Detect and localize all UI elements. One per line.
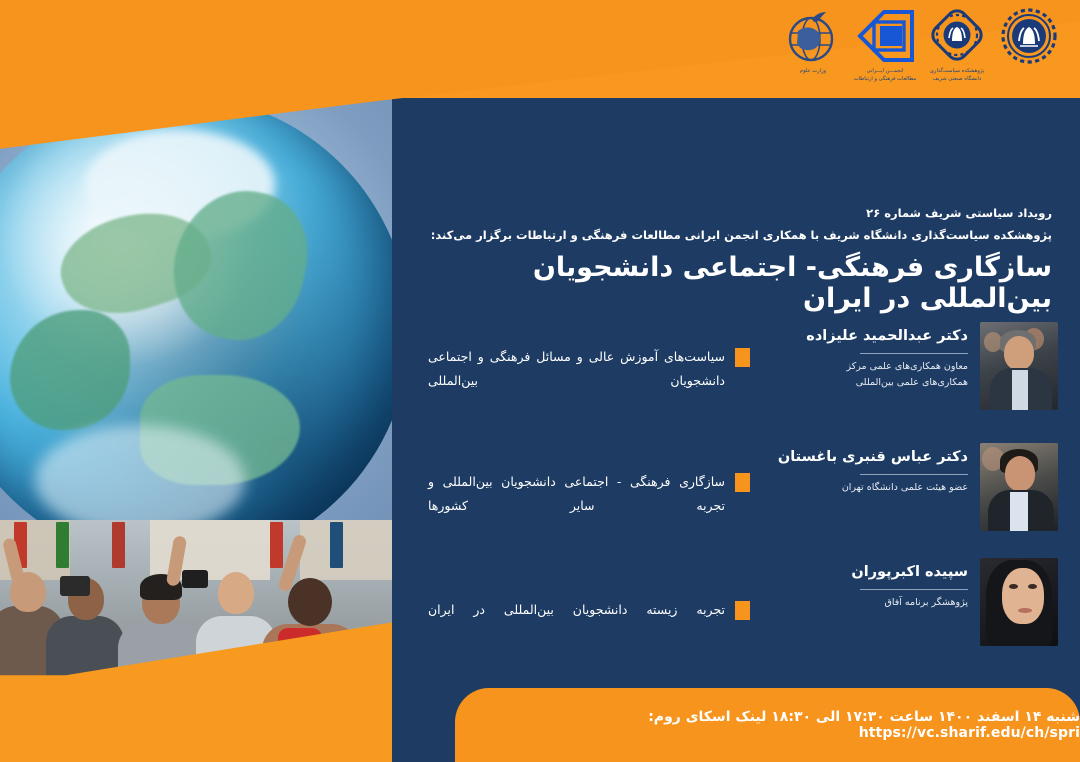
logo-sharif-policy-research-institute: پژوهشکده سیاست‌گذاری دانشگاه صنعتی شریف <box>924 6 990 84</box>
divider <box>860 353 968 354</box>
cloud-band-south <box>35 425 245 535</box>
logo-caption: انجمـــن ایـــرانی مطالعات فرهنگی و ارتب… <box>854 68 917 84</box>
crowd-person <box>218 572 254 614</box>
background-building <box>300 520 392 580</box>
logo-caption: وزارت علوم <box>800 68 826 76</box>
footer-bar: شنبه ۱۴ اسفند ۱۴۰۰ ساعت ۱۷:۳۰ الی ۱۸:۳۰ … <box>455 688 1080 762</box>
speaker-name: سپیده اکبرپوران <box>418 562 968 584</box>
sharif-policy-institute-icon <box>928 6 986 66</box>
page-title: سازگاری فرهنگی- اجتماعی دانشجویان بین‌ال… <box>422 252 1052 314</box>
logo-sharif-university <box>996 6 1062 68</box>
event-poster: وزارت علوم انجمـــن ایـــرانی مطالعات فر… <box>0 0 1080 762</box>
portrait-shirt <box>1012 370 1028 410</box>
speaker-portrait-3 <box>980 558 1058 646</box>
topic-text: سازگاری فرهنگی - اجتماعی دانشجویان بین‌ا… <box>428 470 725 519</box>
orange-square-bullet-icon <box>735 473 750 492</box>
logo-bar: وزارت علوم انجمـــن ایـــرانی مطالعات فر… <box>780 6 1076 98</box>
sharif-university-icon <box>1000 6 1058 66</box>
portrait-shirt <box>1010 492 1028 531</box>
flag <box>270 522 283 568</box>
portrait-eye <box>1009 584 1018 589</box>
camera-phone <box>60 576 90 596</box>
logo-caption: پژوهشکده سیاست‌گذاری دانشگاه صنعتی شریف <box>930 68 984 84</box>
crowd-person-hair <box>288 578 332 626</box>
portrait-face <box>1004 336 1034 370</box>
landmass-west <box>10 310 130 430</box>
orange-square-bullet-icon <box>735 601 750 620</box>
event-date-time: شنبه ۱۴ اسفند ۱۴۰۰ ساعت ۱۷:۳۰ الی ۱۸:۳۰ … <box>648 709 1080 725</box>
speaker-portrait-1 <box>980 322 1058 410</box>
topic-entry: سازگاری فرهنگی - اجتماعی دانشجویان بین‌ا… <box>428 470 750 519</box>
camera-phone <box>182 570 208 588</box>
flag <box>112 522 125 568</box>
logo-iranian-association: انجمـــن ایـــرانی مطالعات فرهنگی و ارتب… <box>852 6 918 84</box>
speaker-name: دکتر عباس قنبری باغستان <box>418 447 968 469</box>
portrait-eye <box>1028 584 1037 589</box>
association-icon <box>854 6 916 66</box>
event-link[interactable]: https://vc.sharif.edu/ch/spri <box>859 725 1080 741</box>
portrait-mouth <box>1018 608 1032 613</box>
topic-text: تجربه زیسته دانشجویان بین‌المللی در ایرا… <box>428 598 725 622</box>
orange-square-bullet-icon <box>735 348 750 367</box>
globe-ministry-icon <box>784 6 842 66</box>
divider <box>860 589 968 590</box>
event-kicker: رویداد سیاستی شریف شماره ۲۶ پژوهشکده سیا… <box>422 203 1052 247</box>
left-imagery-column <box>0 0 392 762</box>
topic-text: سیاست‌های آموزش عالی و مسائل فرهنگی و اج… <box>428 345 725 394</box>
speaker-portrait-2 <box>980 443 1058 531</box>
flag <box>330 522 343 568</box>
portrait-face <box>1005 456 1035 491</box>
event-organizers-line: پژوهشکده سیاست‌گذاری دانشگاه شریف با همک… <box>422 225 1052 247</box>
topic-entry: تجربه زیسته دانشجویان بین‌المللی در ایرا… <box>428 598 750 622</box>
logo-globe-ministry: وزارت علوم <box>780 6 846 76</box>
divider <box>860 474 968 475</box>
footer-details: شنبه ۱۴ اسفند ۱۴۰۰ ساعت ۱۷:۳۰ الی ۱۸:۳۰ … <box>455 709 1080 741</box>
earth-globe-image <box>0 95 392 565</box>
portrait-face <box>1002 568 1044 624</box>
event-series-number: رویداد سیاستی شریف شماره ۲۶ <box>866 206 1052 220</box>
topic-entry: سیاست‌های آموزش عالی و مسائل فرهنگی و اج… <box>428 345 750 394</box>
flag <box>56 522 69 568</box>
